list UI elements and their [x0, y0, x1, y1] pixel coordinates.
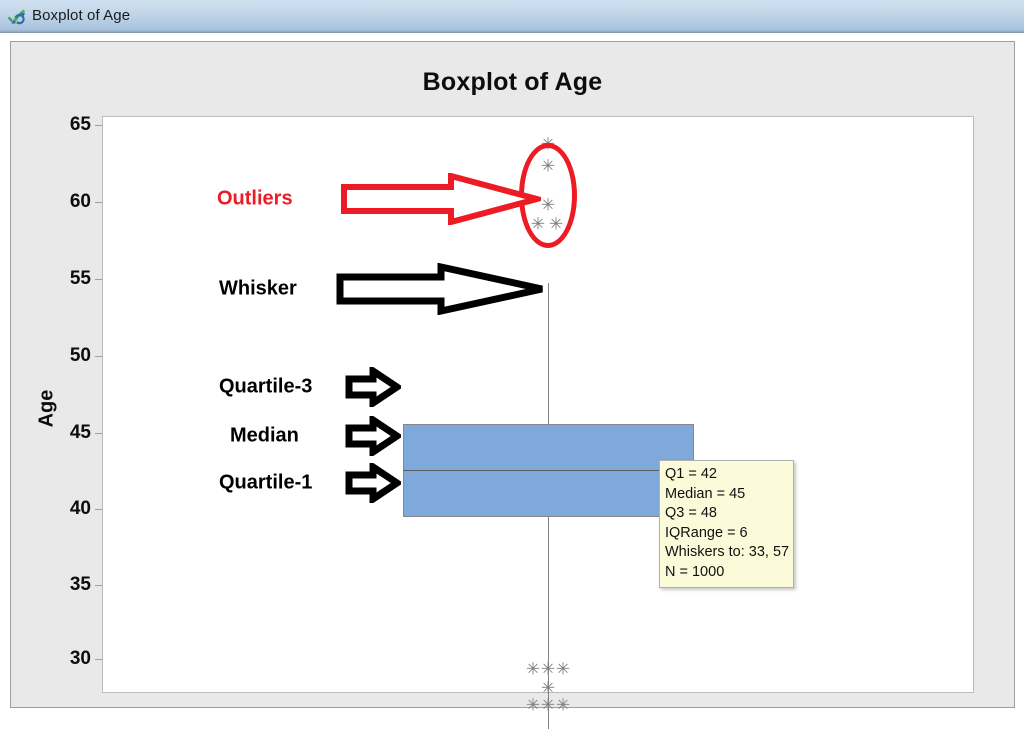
- chart-panel: Boxplot of Age Age 65 60 55 50 45 40 35 …: [10, 41, 1015, 708]
- tooltip-line-iqrange: IQRange = 6: [665, 524, 788, 544]
- outlier-marker: ✳: [556, 699, 571, 714]
- y-tick-label-50: 50: [45, 345, 91, 367]
- tooltip-line-q1: Q1 = 42: [665, 465, 788, 485]
- annotation-arrow-outliers: [341, 173, 541, 225]
- upper-whisker: [548, 283, 549, 424]
- tooltip-line-whiskers: Whiskers to: 33, 57: [665, 543, 788, 563]
- tooltip-line-median: Median = 45: [665, 485, 788, 505]
- y-tick-mark: [95, 659, 102, 660]
- y-tick-label-55: 55: [45, 268, 91, 290]
- outlier-marker: ✳: [526, 663, 541, 678]
- y-tick-label-65: 65: [45, 114, 91, 136]
- outlier-marker: ✳: [541, 663, 556, 678]
- refresh-check-icon: [7, 6, 27, 26]
- y-tick-mark: [95, 433, 102, 434]
- annotation-arrow-quartile1: [345, 463, 401, 503]
- outlier-marker: ✳: [556, 663, 571, 678]
- y-tick-label-45: 45: [45, 422, 91, 444]
- annotation-label-quartile1: Quartile-1: [219, 472, 312, 495]
- y-tick-label-60: 60: [45, 191, 91, 213]
- y-tick-mark: [95, 125, 102, 126]
- window-title: Boxplot of Age: [32, 7, 130, 24]
- annotation-label-quartile3: Quartile-3: [219, 376, 312, 399]
- annotation-arrow-median: [345, 416, 401, 456]
- tooltip-line-n: N = 1000: [665, 563, 788, 583]
- y-tick-mark: [95, 585, 102, 586]
- y-tick-mark: [95, 279, 102, 280]
- annotation-arrow-whisker: [336, 263, 546, 315]
- annotation-label-median: Median: [230, 425, 299, 448]
- title-bar: Boxplot of Age: [0, 0, 1024, 33]
- annotation-label-whisker: Whisker: [219, 278, 297, 301]
- median-line: [403, 470, 694, 471]
- outlier-marker: ✳: [526, 699, 541, 714]
- y-tick-label-40: 40: [45, 498, 91, 520]
- y-tick-label-35: 35: [45, 574, 91, 596]
- chart-title: Boxplot of Age: [11, 68, 1014, 97]
- statistics-tooltip: Q1 = 42 Median = 45 Q3 = 48 IQRange = 6 …: [659, 460, 794, 588]
- annotation-arrow-quartile3: [345, 367, 401, 407]
- outlier-marker: ✳: [541, 699, 556, 714]
- tooltip-line-q3: Q3 = 48: [665, 504, 788, 524]
- application-window: Boxplot of Age Boxplot of Age Age 65 60 …: [0, 0, 1024, 719]
- y-tick-mark: [95, 509, 102, 510]
- outlier-marker: ✳: [541, 682, 556, 697]
- annotation-label-outliers: Outliers: [217, 188, 293, 211]
- y-tick-mark: [95, 202, 102, 203]
- y-tick-label-30: 30: [45, 648, 91, 670]
- y-tick-mark: [95, 356, 102, 357]
